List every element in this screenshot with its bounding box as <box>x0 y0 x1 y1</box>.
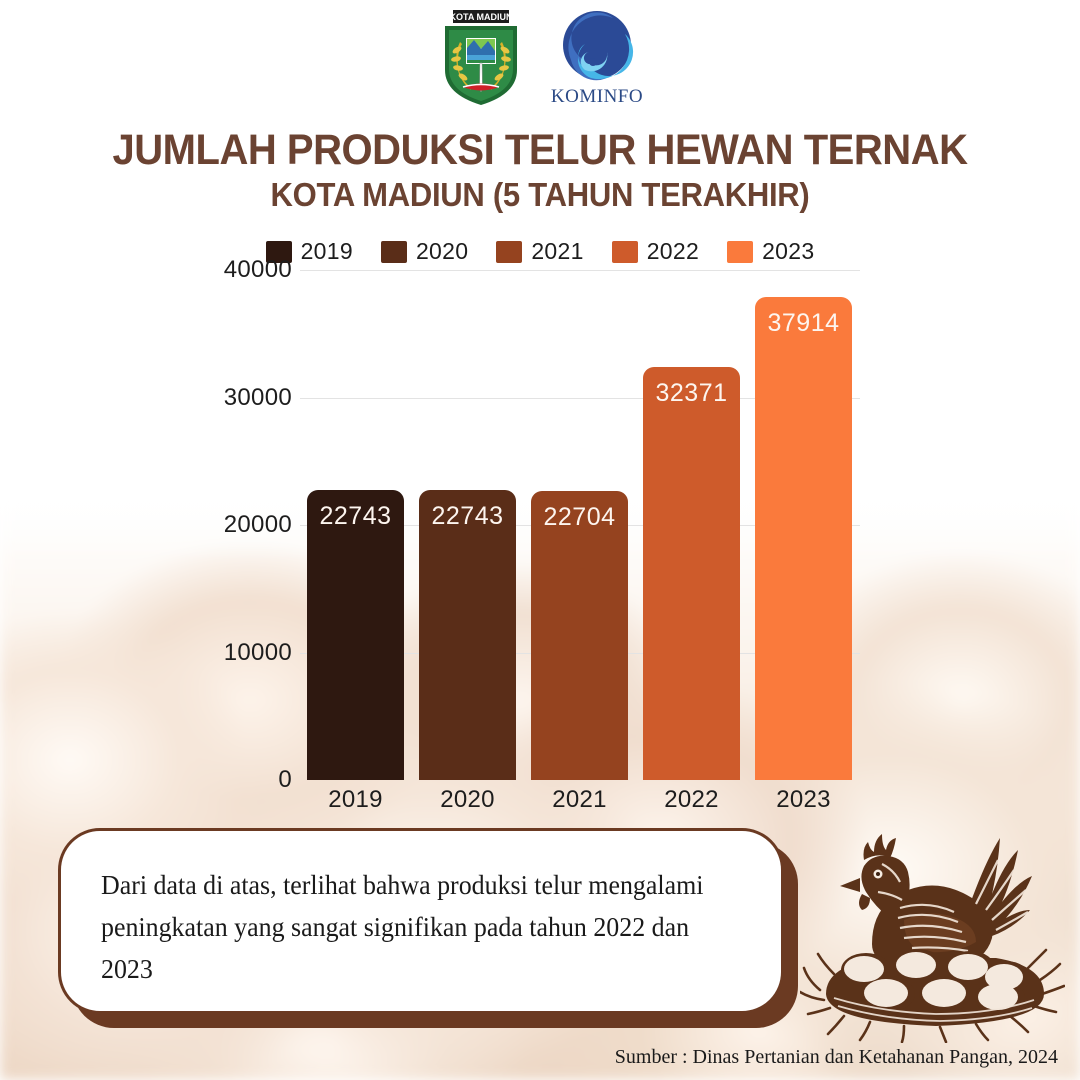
kominfo-logo-icon: KOMINFO <box>547 8 647 112</box>
page-title: JUMLAH PRODUKSI TELUR HEWAN TERNAK <box>38 126 1042 175</box>
bar-value-label: 22704 <box>543 503 615 532</box>
bar-2023[interactable]: 37914 <box>755 297 852 780</box>
legend-swatch-2020 <box>381 241 407 263</box>
legend-item-2020[interactable]: 2020 <box>381 238 468 265</box>
kota-madiun-emblem-icon: KOTA MADIUN <box>433 8 529 108</box>
y-tick-label: 20000 <box>224 511 292 539</box>
bar-column-2022[interactable]: 32371 <box>643 367 740 780</box>
source-note: Sumber : Dinas Pertanian dan Ketahanan P… <box>0 1046 1080 1069</box>
bar-column-2020[interactable]: 22743 <box>419 490 516 780</box>
bar-value-label: 22743 <box>319 502 391 531</box>
bar-2019[interactable]: 22743 <box>307 490 404 780</box>
legend-swatch-2022 <box>612 241 638 263</box>
y-tick-label: 0 <box>278 766 292 794</box>
bar-value-label: 22743 <box>431 502 503 531</box>
chart-legend: 20192020202120222023 <box>0 238 1080 265</box>
callout-text: Dari data di atas, terlihat bahwa produk… <box>101 865 715 991</box>
infographic-page: KOTA MADIUN <box>0 0 1080 1080</box>
x-tick-label-2022: 2022 <box>643 786 740 814</box>
legend-label: 2022 <box>647 238 699 265</box>
svg-text:KOTA MADIUN: KOTA MADIUN <box>450 12 513 22</box>
legend-label: 2019 <box>301 238 353 265</box>
bar-value-label: 32371 <box>655 379 727 408</box>
x-axis-labels: 20192020202120222023 <box>300 786 860 826</box>
legend-label: 2020 <box>416 238 468 265</box>
bar-value-label: 37914 <box>767 309 839 338</box>
legend-swatch-2023 <box>727 241 753 263</box>
kominfo-wordmark: KOMINFO <box>551 86 643 108</box>
bar-2022[interactable]: 32371 <box>643 367 740 780</box>
hen-on-nest-illustration-icon <box>800 808 1065 1043</box>
bar-column-2021[interactable]: 22704 <box>531 491 628 780</box>
x-tick-label-2019: 2019 <box>307 786 404 814</box>
bar-2020[interactable]: 22743 <box>419 490 516 780</box>
x-tick-label-2020: 2020 <box>419 786 516 814</box>
y-axis-labels: 010000200003000040000 <box>0 270 292 780</box>
legend-item-2022[interactable]: 2022 <box>612 238 699 265</box>
x-tick-label-2021: 2021 <box>531 786 628 814</box>
y-tick-label: 30000 <box>224 384 292 412</box>
callout-box: Dari data di atas, terlihat bahwa produk… <box>58 828 798 1028</box>
bar-chart: 010000200003000040000 227432274322704323… <box>0 270 1080 815</box>
legend-label: 2023 <box>762 238 814 265</box>
logo-row: KOTA MADIUN <box>0 8 1080 112</box>
bar-2021[interactable]: 22704 <box>531 491 628 780</box>
bar-column-2023[interactable]: 37914 <box>755 297 852 780</box>
bar-column-2019[interactable]: 22743 <box>307 490 404 780</box>
callout-panel: Dari data di atas, terlihat bahwa produk… <box>58 828 784 1014</box>
legend-item-2021[interactable]: 2021 <box>496 238 583 265</box>
y-tick-label: 40000 <box>224 256 292 284</box>
chart-plot-area: 2274322743227043237137914 <box>300 270 860 780</box>
legend-item-2023[interactable]: 2023 <box>727 238 814 265</box>
legend-swatch-2021 <box>496 241 522 263</box>
legend-label: 2021 <box>531 238 583 265</box>
page-subtitle: KOTA MADIUN (5 TAHUN TERAKHIR) <box>32 176 1047 214</box>
y-tick-label: 10000 <box>224 639 292 667</box>
